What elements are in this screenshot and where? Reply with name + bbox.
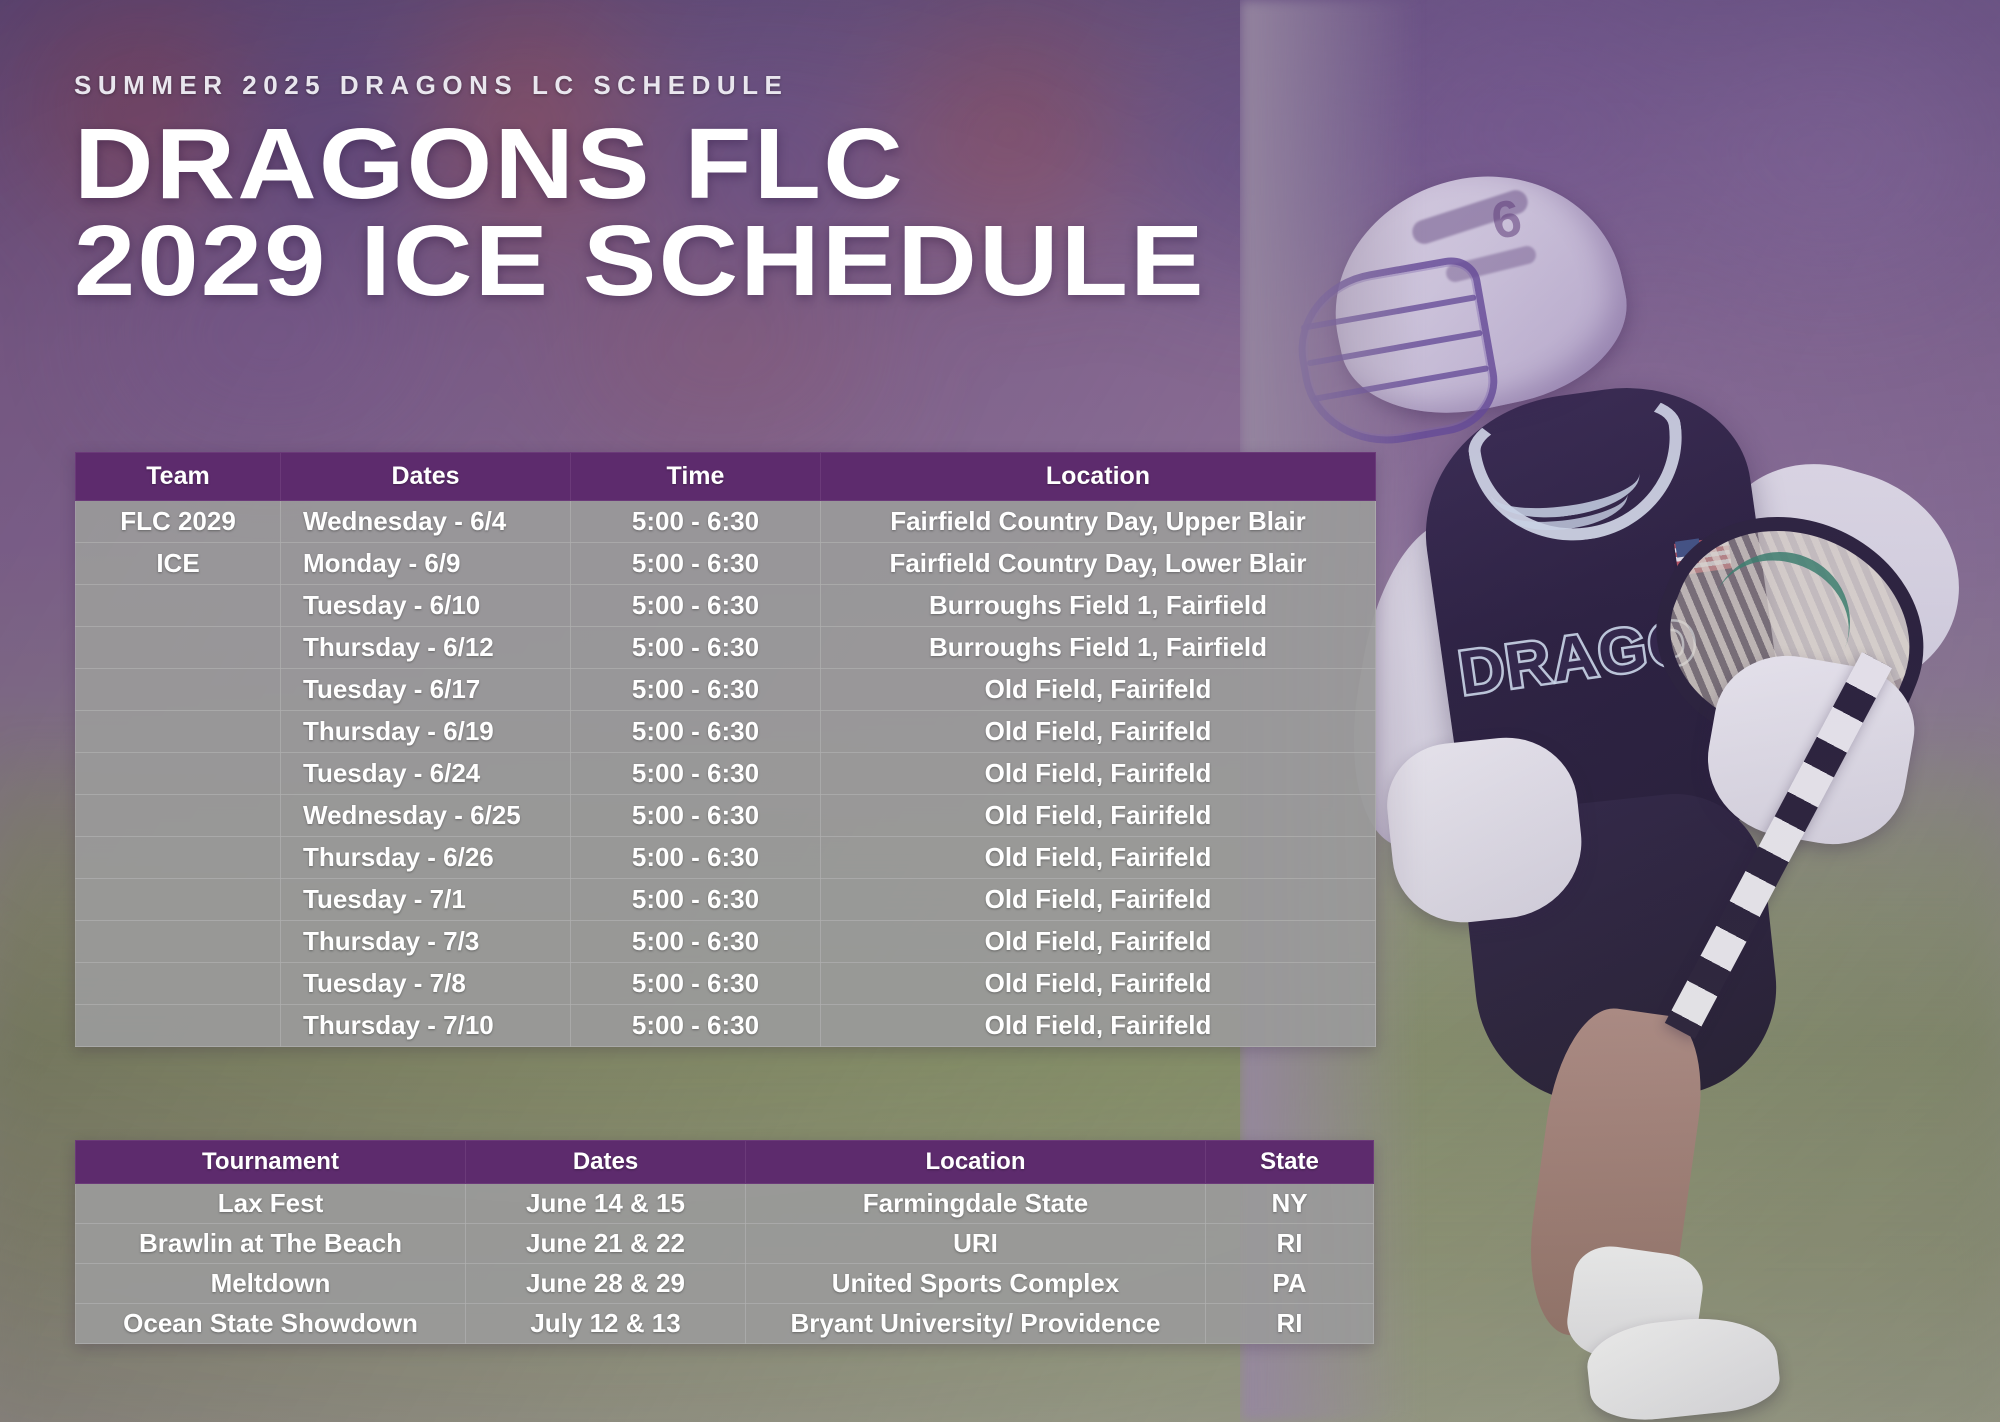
cell-state: RI — [1206, 1304, 1374, 1344]
table-row: Thursday - 6/265:00 - 6:30Old Field, Fai… — [76, 837, 1376, 879]
cell-location: Fairfield Country Day, Lower Blair — [821, 543, 1376, 585]
cell-team — [76, 711, 281, 753]
page-title: DRAGONS FLC 2029 ICE SCHEDULE — [74, 118, 1103, 308]
table-row: FLC 2029Wednesday - 6/45:00 - 6:30Fairfi… — [76, 501, 1376, 543]
cell-tournament: Lax Fest — [76, 1184, 466, 1224]
table-row: Wednesday - 6/255:00 - 6:30Old Field, Fa… — [76, 795, 1376, 837]
cell-location: Burroughs Field 1, Fairfield — [821, 627, 1376, 669]
cell-time: 5:00 - 6:30 — [571, 543, 821, 585]
cell-dates: June 14 & 15 — [466, 1184, 746, 1224]
cell-location: Old Field, Fairifeld — [821, 669, 1376, 711]
cell-dates: Monday - 6/9 — [281, 543, 571, 585]
cell-dates: Thursday - 7/3 — [281, 921, 571, 963]
cell-dates: Tuesday - 7/8 — [281, 963, 571, 1005]
table-row: Thursday - 7/105:00 - 6:30Old Field, Fai… — [76, 1005, 1376, 1047]
cell-location: Bryant University/ Providence — [746, 1304, 1206, 1344]
table-row: Tuesday - 7/85:00 - 6:30Old Field, Fairi… — [76, 963, 1376, 1005]
table-row: Tuesday - 6/245:00 - 6:30Old Field, Fair… — [76, 753, 1376, 795]
cell-team — [76, 669, 281, 711]
table-row: Brawlin at The BeachJune 21 & 22URIRI — [76, 1224, 1374, 1264]
tournament-header-row: Tournament Dates Location State — [76, 1141, 1374, 1184]
cell-time: 5:00 - 6:30 — [571, 627, 821, 669]
cell-location: Old Field, Fairifeld — [821, 963, 1376, 1005]
cell-state: NY — [1206, 1184, 1374, 1224]
cell-dates: Tuesday - 7/1 — [281, 879, 571, 921]
cell-time: 5:00 - 6:30 — [571, 879, 821, 921]
cell-dates: Tuesday - 6/17 — [281, 669, 571, 711]
table-row: Tuesday - 6/105:00 - 6:30Burroughs Field… — [76, 585, 1376, 627]
cell-time: 5:00 - 6:30 — [571, 837, 821, 879]
page-title-line-2: 2029 ICE SCHEDULE — [74, 215, 1206, 308]
cell-location: Old Field, Fairifeld — [821, 795, 1376, 837]
cell-location: Burroughs Field 1, Fairfield — [821, 585, 1376, 627]
practice-schedule-table: Team Dates Time Location FLC 2029Wednesd… — [75, 452, 1376, 1047]
cell-tournament: Ocean State Showdown — [76, 1304, 466, 1344]
table-row: Thursday - 6/195:00 - 6:30Old Field, Fai… — [76, 711, 1376, 753]
cell-team — [76, 921, 281, 963]
cell-location: Old Field, Fairifeld — [821, 879, 1376, 921]
column-header-team: Team — [76, 453, 281, 501]
cell-state: RI — [1206, 1224, 1374, 1264]
cell-location: Old Field, Fairifeld — [821, 711, 1376, 753]
cell-dates: June 21 & 22 — [466, 1224, 746, 1264]
column-header-location: Location — [821, 453, 1376, 501]
cell-time: 5:00 - 6:30 — [571, 1005, 821, 1047]
cell-location: Old Field, Fairifeld — [821, 753, 1376, 795]
cell-time: 5:00 - 6:30 — [571, 963, 821, 1005]
cell-location: United Sports Complex — [746, 1264, 1206, 1304]
cell-tournament: Meltdown — [76, 1264, 466, 1304]
cell-time: 5:00 - 6:30 — [571, 585, 821, 627]
cell-team — [76, 795, 281, 837]
table-row: Tuesday - 6/175:00 - 6:30Old Field, Fair… — [76, 669, 1376, 711]
cell-team: FLC 2029 — [76, 501, 281, 543]
cell-dates: July 12 & 13 — [466, 1304, 746, 1344]
column-header-time: Time — [571, 453, 821, 501]
cell-team — [76, 1005, 281, 1047]
cell-location: URI — [746, 1224, 1206, 1264]
cell-time: 5:00 - 6:30 — [571, 753, 821, 795]
cell-dates: Thursday - 6/12 — [281, 627, 571, 669]
cell-team — [76, 753, 281, 795]
column-header-tournament-dates: Dates — [466, 1141, 746, 1184]
cell-location: Old Field, Fairifeld — [821, 921, 1376, 963]
cell-team — [76, 585, 281, 627]
tournament-table: Tournament Dates Location State Lax Fest… — [75, 1140, 1374, 1344]
cell-time: 5:00 - 6:30 — [571, 669, 821, 711]
cell-dates: Wednesday - 6/25 — [281, 795, 571, 837]
cell-time: 5:00 - 6:30 — [571, 501, 821, 543]
page-title-line-1: DRAGONS FLC — [74, 118, 1206, 211]
cell-time: 5:00 - 6:30 — [571, 711, 821, 753]
column-header-state: State — [1206, 1141, 1374, 1184]
table-row: Lax FestJune 14 & 15Farmingdale StateNY — [76, 1184, 1374, 1224]
cell-dates: Thursday - 6/19 — [281, 711, 571, 753]
cell-dates: June 28 & 29 — [466, 1264, 746, 1304]
cell-dates: Tuesday - 6/10 — [281, 585, 571, 627]
table-row: Tuesday - 7/15:00 - 6:30Old Field, Fairi… — [76, 879, 1376, 921]
cell-location: Fairfield Country Day, Upper Blair — [821, 501, 1376, 543]
table-row: Thursday - 6/125:00 - 6:30Burroughs Fiel… — [76, 627, 1376, 669]
cell-location: Old Field, Fairifeld — [821, 1005, 1376, 1047]
cell-dates: Thursday - 6/26 — [281, 837, 571, 879]
cell-team — [76, 627, 281, 669]
cell-location: Old Field, Fairifeld — [821, 837, 1376, 879]
cell-dates: Thursday - 7/10 — [281, 1005, 571, 1047]
table-row: ICEMonday - 6/95:00 - 6:30Fairfield Coun… — [76, 543, 1376, 585]
cell-dates: Tuesday - 6/24 — [281, 753, 571, 795]
cell-team — [76, 963, 281, 1005]
cell-tournament: Brawlin at The Beach — [76, 1224, 466, 1264]
cell-team: ICE — [76, 543, 281, 585]
cell-dates: Wednesday - 6/4 — [281, 501, 571, 543]
table-header-row: Team Dates Time Location — [76, 453, 1376, 501]
column-header-tournament: Tournament — [76, 1141, 466, 1184]
cell-time: 5:00 - 6:30 — [571, 921, 821, 963]
cell-state: PA — [1206, 1264, 1374, 1304]
column-header-tournament-location: Location — [746, 1141, 1206, 1184]
cell-time: 5:00 - 6:30 — [571, 795, 821, 837]
table-row: MeltdownJune 28 & 29United Sports Comple… — [76, 1264, 1374, 1304]
table-row: Thursday - 7/35:00 - 6:30Old Field, Fair… — [76, 921, 1376, 963]
column-header-dates: Dates — [281, 453, 571, 501]
eyebrow-text: SUMMER 2025 DRAGONS LC SCHEDULE — [74, 70, 788, 101]
table-row: Ocean State ShowdownJuly 12 & 13Bryant U… — [76, 1304, 1374, 1344]
cell-team — [76, 837, 281, 879]
cell-team — [76, 879, 281, 921]
cell-location: Farmingdale State — [746, 1184, 1206, 1224]
